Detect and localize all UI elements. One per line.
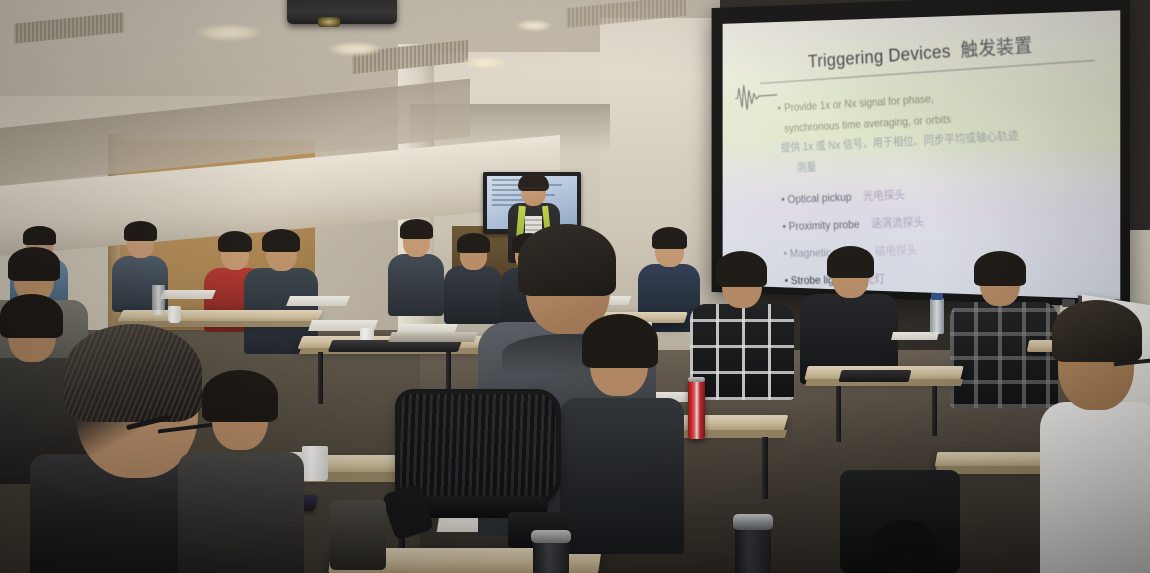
item-label-cn: 涵涡流探头	[871, 215, 925, 230]
hair	[827, 246, 874, 278]
chair-wheel-base	[872, 520, 938, 573]
bullet-dot: •	[777, 103, 781, 114]
hair	[400, 219, 433, 239]
hair	[202, 370, 278, 422]
classroom-photo: Triggering Devices触发装置 •Provide 1x or Nx…	[0, 0, 1150, 573]
papers	[160, 290, 216, 299]
slide-item-optical-pickup: • Optical pickup光电探头	[781, 178, 1101, 207]
paper-cup	[302, 446, 328, 481]
waste-bin	[330, 500, 386, 570]
paper-cup	[168, 306, 181, 323]
hair	[518, 224, 616, 296]
item-label-en: Proximity probe	[788, 217, 859, 232]
person-plaid-shirt	[690, 256, 794, 396]
projector-lens-icon	[318, 17, 340, 27]
downlight-icon	[328, 42, 382, 56]
thermos-cap	[531, 530, 571, 543]
person-foreground-center-right	[560, 318, 684, 548]
glass-bottle	[152, 285, 165, 315]
downlight-icon	[462, 56, 508, 69]
downlight-icon	[196, 24, 262, 41]
papers	[286, 296, 350, 306]
notebook	[839, 370, 912, 382]
person-far-right-white-shirt	[1040, 304, 1150, 573]
person-front-left-second	[178, 376, 304, 573]
person-dark-jacket-right	[800, 250, 898, 380]
bullet-cn-2: 测量	[797, 162, 817, 174]
waveform-icon	[734, 80, 778, 114]
ceiling-projector	[287, 0, 397, 24]
hair	[652, 227, 687, 249]
office-chair	[398, 392, 560, 542]
hair	[974, 251, 1026, 286]
binder	[388, 332, 478, 342]
red-beverage-can	[688, 379, 705, 439]
person-center-1	[388, 222, 444, 314]
thermos-cap	[733, 514, 773, 530]
slide-title-cn: 触发装置	[960, 35, 1033, 61]
hair	[8, 247, 60, 281]
hair	[124, 221, 157, 241]
water-bottle	[930, 298, 944, 334]
desk-leg	[762, 437, 768, 499]
downlight-icon	[516, 20, 552, 31]
desk-leg	[318, 352, 323, 404]
hair	[582, 314, 658, 368]
beverage-can-top	[688, 377, 705, 382]
torso	[388, 254, 444, 316]
slide-item-proximity-probe: • Proximity probe涵涡流探头	[782, 207, 1102, 233]
hair	[23, 226, 56, 245]
desk-leg	[836, 386, 841, 442]
bullet-line-1: Provide 1x or Nx signal for phase,	[784, 93, 934, 114]
torso	[560, 398, 684, 554]
slide-title: Triggering Devices触发装置	[754, 26, 1095, 77]
torso	[1040, 402, 1150, 573]
desk-leg	[932, 386, 937, 436]
item-label-en: Optical pickup	[787, 190, 852, 206]
hair	[1052, 300, 1142, 362]
plaid-torso	[690, 304, 794, 400]
hair	[262, 229, 300, 252]
glasses-icon	[521, 187, 546, 194]
water-bottle-cap	[931, 293, 943, 300]
slide-content: Triggering Devices触发装置 •Provide 1x or Nx…	[723, 10, 1121, 297]
slide-title-en: Triggering Devices	[808, 42, 952, 73]
item-label-cn: 光电探头	[863, 188, 906, 203]
hair	[716, 251, 767, 287]
person-back-left-4	[244, 232, 318, 352]
bullet-dot: •	[782, 219, 786, 232]
bullet-dot: •	[781, 192, 785, 205]
bullet-line-2: synchronous time averaging, or orbits	[784, 113, 951, 134]
torso	[178, 452, 304, 573]
